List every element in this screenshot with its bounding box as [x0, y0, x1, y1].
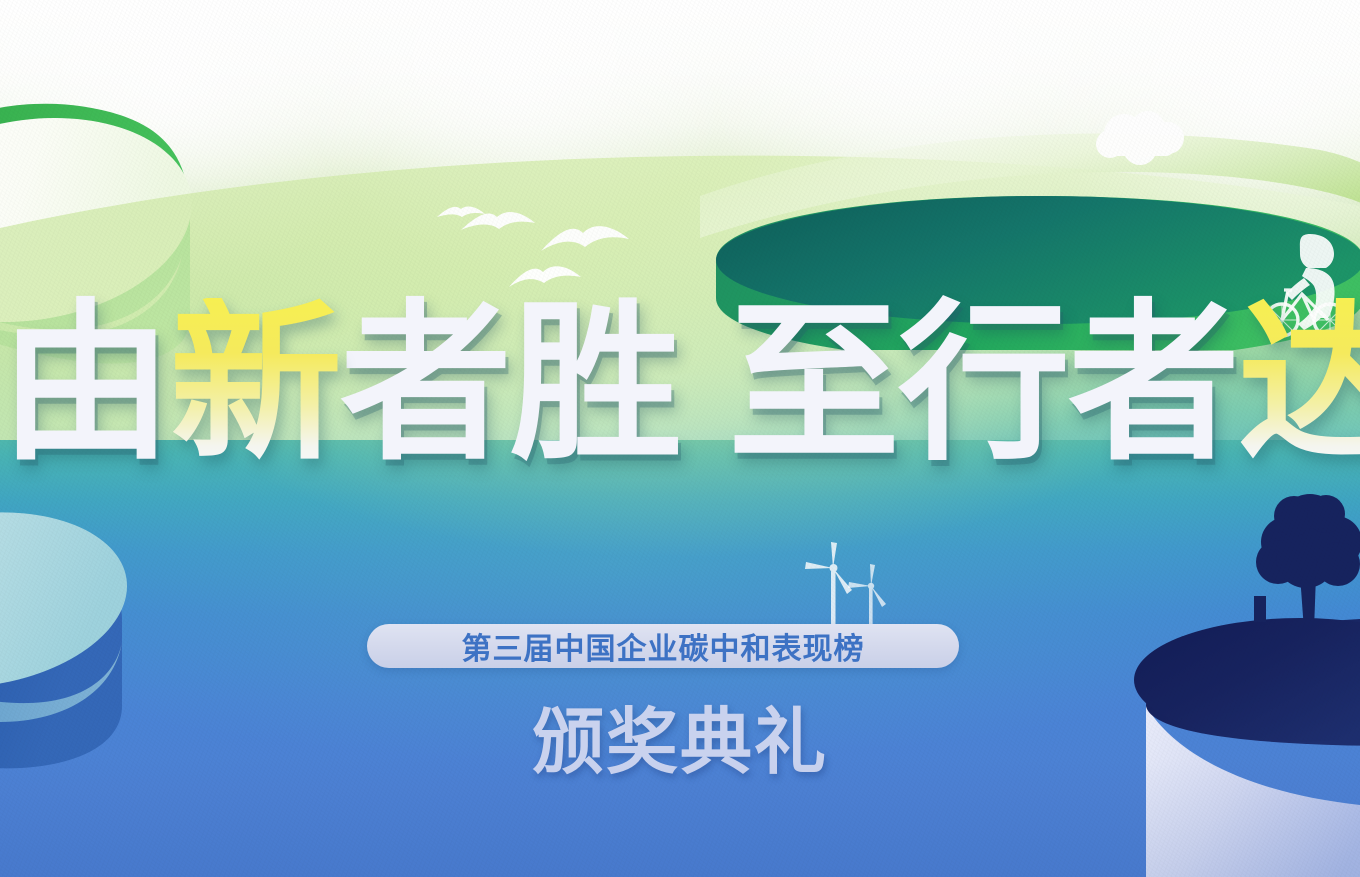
subtitle-banner: 第三届中国企业碳中和表现榜: [367, 624, 959, 668]
poster-title: 由新者胜至行者达: [0, 298, 1360, 470]
cloud-icon: [1088, 108, 1192, 172]
subtitle-text: 第三届中国企业碳中和表现榜: [462, 624, 865, 668]
poster-canvas: 由新者胜至行者达 第三届中国企业碳中和表现榜 颁奖典礼: [0, 0, 1360, 877]
title-char: 由: [0, 298, 170, 470]
ceremony-heading: 颁奖典礼: [0, 683, 1360, 788]
title-char: 者: [340, 298, 510, 470]
title-char: 者: [1068, 298, 1238, 470]
title-char: 至: [728, 298, 898, 470]
title-char: 胜: [510, 298, 680, 470]
title-char: 新: [170, 298, 340, 470]
title-char: 达: [1238, 298, 1360, 470]
title-char: 行: [898, 298, 1068, 470]
ceremony-text: 颁奖典礼: [532, 699, 828, 784]
